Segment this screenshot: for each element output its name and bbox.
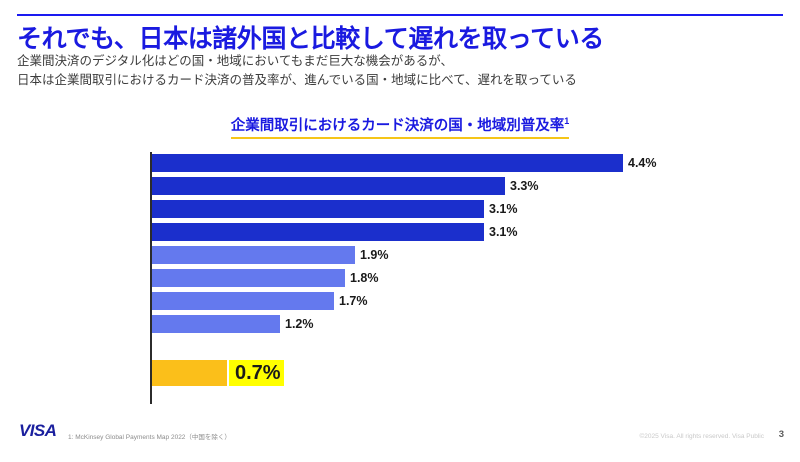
chart-plot-area: 韓国4.4%アメリカ合衆国3.3%オーストラリア3.1%イギリス3.1%カナダ1…: [0, 148, 800, 410]
chart-bar: [152, 246, 355, 264]
footnote-text: 1: McKinsey Global Payments Map 2022（中国を…: [68, 431, 231, 441]
chart-bar: [152, 292, 334, 310]
chart-title-footnote-marker: 1: [564, 116, 569, 126]
copyright-text: ©2025 Visa. All rights reserved. Visa Pu…: [639, 433, 764, 440]
chart-value-label: 1.2%: [280, 315, 314, 333]
chart-value-label: 1.7%: [334, 292, 368, 310]
slide-subtitle: 企業間決済のデジタル化はどの国・地域においてもまだ巨大な機会があるが、 日本は企…: [17, 52, 777, 91]
chart-bar: [152, 360, 227, 386]
subtitle-line-2: 日本は企業間取引におけるカード決済の普及率が、進んでいる国・地域に比べて、遅れを…: [17, 71, 777, 90]
chart-bar: [152, 269, 345, 287]
header-rule: [17, 14, 783, 16]
chart-bar: [152, 223, 484, 241]
chart-title-container: 企業間取引におけるカード決済の国・地域別普及率1: [0, 114, 800, 139]
chart-value-label: 1.9%: [355, 246, 389, 264]
slide-title: それでも、日本は諸外国と比較して遅れを取っている: [17, 19, 777, 55]
chart-value-label: 1.8%: [345, 269, 379, 287]
visa-logo: VISA: [19, 421, 56, 441]
bottom-bar: [0, 456, 800, 462]
chart-value-label: 3.3%: [505, 177, 539, 195]
chart-value-label: 3.1%: [484, 223, 518, 241]
subtitle-line-1: 企業間決済のデジタル化はどの国・地域においてもまだ巨大な機会があるが、: [17, 52, 777, 71]
chart-value-label: 0.7%: [229, 360, 284, 386]
chart-bar: [152, 177, 505, 195]
chart-bar: [152, 154, 623, 172]
chart-bar: [152, 315, 280, 333]
chart-title: 企業間取引におけるカード決済の国・地域別普及率1: [231, 114, 570, 139]
chart-bar: [152, 200, 484, 218]
chart-value-label: 3.1%: [484, 200, 518, 218]
chart-title-text: 企業間取引におけるカード決済の国・地域別普及率: [231, 118, 565, 134]
page-number: 3: [779, 429, 784, 440]
chart-value-label: 4.4%: [623, 154, 657, 172]
